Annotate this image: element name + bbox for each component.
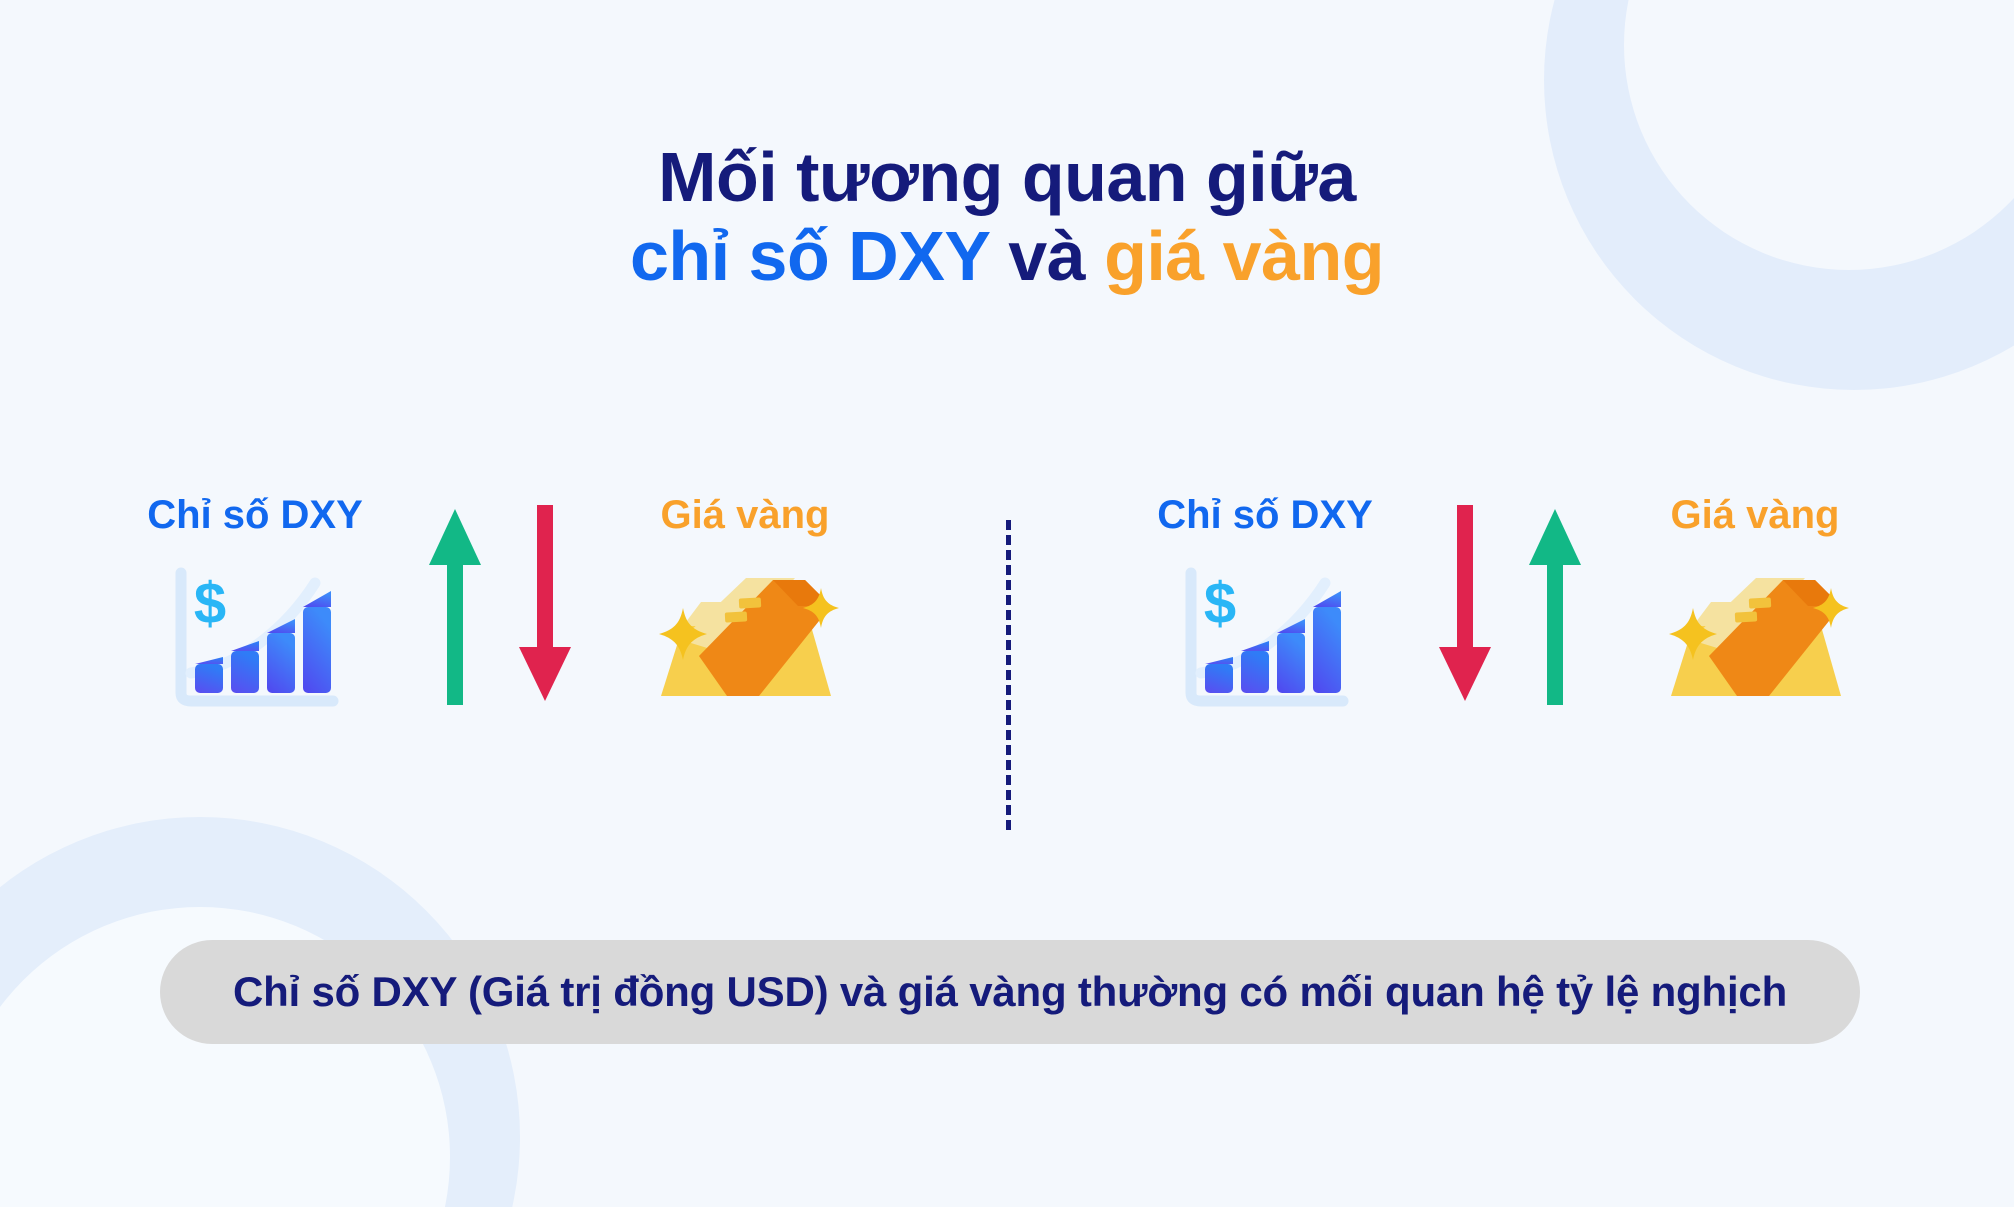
gold-label-right: Giá vàng xyxy=(1671,495,1840,535)
panel-divider xyxy=(1006,520,1011,830)
green-up-arrow xyxy=(1527,505,1583,705)
title-line-2: chỉ số DXY và giá vàng xyxy=(0,217,2014,296)
page-title: Mối tương quan giữa chỉ số DXY và giá và… xyxy=(0,138,2014,296)
panel-dxy-up-gold-down: Chỉ số DXY xyxy=(60,495,940,825)
summary-banner-text: Chỉ số DXY (Giá trị đồng USD) và giá vàn… xyxy=(233,968,1787,1016)
red-down-arrow xyxy=(517,505,573,705)
dxy-chart-icon: $ xyxy=(150,553,360,723)
group-dxy-right: Chỉ số DXY xyxy=(1115,495,1415,723)
infographic-canvas: Mối tương quan giữa chỉ số DXY và giá và… xyxy=(0,0,2014,1207)
gold-bars-icon xyxy=(1650,553,1860,723)
gold-bars-icon xyxy=(640,553,850,723)
arrows-right-panel xyxy=(1415,495,1605,705)
summary-banner: Chỉ số DXY (Giá trị đồng USD) và giá vàn… xyxy=(160,940,1860,1044)
dxy-chart-icon: $ xyxy=(1160,553,1370,723)
dxy-label-left: Chỉ số DXY xyxy=(147,495,363,535)
comparison-panels: Chỉ số DXY xyxy=(0,495,2014,825)
title-segment-and: và xyxy=(989,217,1104,295)
title-segment-gold: giá vàng xyxy=(1104,217,1384,295)
title-line-1: Mối tương quan giữa xyxy=(0,138,2014,217)
group-gold-right: Giá vàng xyxy=(1605,495,1905,723)
green-up-arrow xyxy=(427,505,483,705)
red-down-arrow xyxy=(1437,505,1493,705)
group-gold-left: Giá vàng xyxy=(595,495,895,723)
dxy-label-right: Chỉ số DXY xyxy=(1157,495,1373,535)
gold-label-left: Giá vàng xyxy=(661,495,830,535)
svg-text:$: $ xyxy=(1204,571,1236,636)
arrows-left-panel xyxy=(405,495,595,705)
panel-dxy-down-gold-up: Chỉ số DXY xyxy=(1070,495,1950,825)
title-segment-dxy: chỉ số DXY xyxy=(630,217,989,295)
group-dxy-left: Chỉ số DXY xyxy=(105,495,405,723)
svg-text:$: $ xyxy=(194,571,226,636)
